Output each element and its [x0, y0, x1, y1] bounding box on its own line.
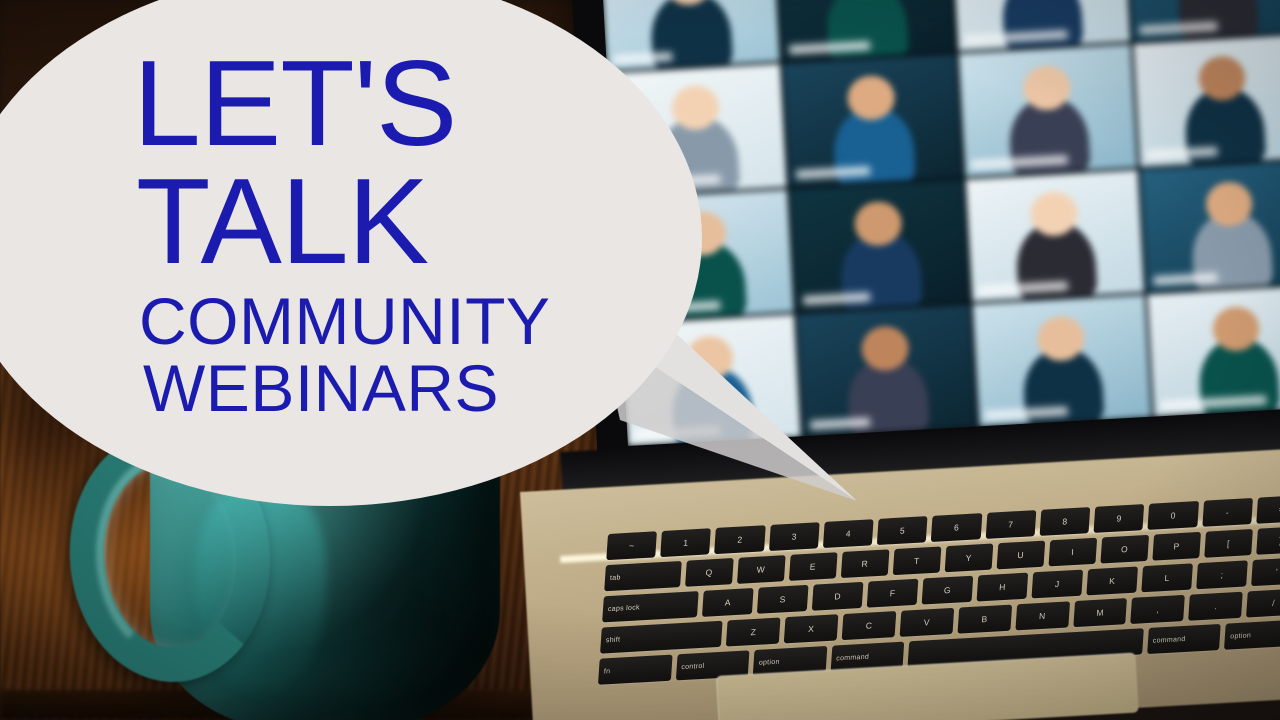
video-tile: [797, 304, 976, 436]
video-tile: [621, 314, 800, 446]
participant-body: [825, 0, 909, 61]
key-A[interactable]: A: [702, 588, 754, 617]
key-J[interactable]: J: [1031, 570, 1083, 599]
key--[interactable]: -: [1202, 498, 1253, 527]
key-V[interactable]: V: [900, 608, 955, 637]
key-shift[interactable]: shift: [600, 621, 723, 654]
key-Y[interactable]: Y: [944, 544, 993, 573]
promotional-graphic: ~1234567890-=tabQWERTYUIOP[]caps lockASD…: [0, 0, 1280, 720]
video-tile: [1148, 285, 1280, 417]
video-tile: [776, 0, 955, 61]
participant-body: [1176, 0, 1260, 41]
key-O[interactable]: O: [1100, 535, 1149, 564]
key-R[interactable]: R: [840, 549, 889, 578]
key-C[interactable]: C: [842, 611, 897, 640]
key-U[interactable]: U: [996, 541, 1045, 570]
key-E[interactable]: E: [789, 552, 838, 581]
key-D[interactable]: D: [812, 582, 864, 611]
video-tile: [600, 0, 779, 71]
key-2[interactable]: 2: [715, 525, 766, 554]
participant-body: [1000, 0, 1084, 51]
video-tile: [1127, 0, 1280, 41]
key-7[interactable]: 7: [985, 510, 1036, 539]
key-K[interactable]: K: [1086, 566, 1138, 595]
key-][interactable]: ]: [1256, 526, 1280, 555]
key-6[interactable]: 6: [931, 513, 982, 542]
key-[[interactable]: [: [1204, 529, 1253, 558]
key-tab[interactable]: tab: [604, 561, 681, 591]
video-tile: [958, 45, 1137, 177]
key-G[interactable]: G: [922, 576, 974, 605]
key-;[interactable]: ;: [1196, 560, 1248, 589]
mug-handle-join: [205, 418, 315, 474]
key-'[interactable]: ': [1251, 557, 1280, 586]
video-tile: [1134, 35, 1280, 167]
key-fn[interactable]: fn: [598, 655, 672, 685]
video-tile: [614, 189, 793, 321]
key-option[interactable]: option: [1224, 620, 1280, 650]
key-B[interactable]: B: [957, 605, 1012, 634]
key-command[interactable]: command: [1147, 624, 1221, 654]
key-Z[interactable]: Z: [726, 617, 781, 646]
key-~[interactable]: ~: [606, 531, 657, 560]
key-P[interactable]: P: [1152, 532, 1201, 561]
key-T[interactable]: T: [892, 546, 941, 575]
key-4[interactable]: 4: [823, 519, 874, 548]
key-3[interactable]: 3: [769, 522, 820, 551]
video-tile: [1141, 160, 1280, 292]
video-tile: [965, 170, 1144, 302]
laptop-display: [600, 0, 1280, 446]
key-0[interactable]: 0: [1148, 501, 1199, 530]
key-Q[interactable]: Q: [685, 558, 734, 587]
key-W[interactable]: W: [737, 555, 786, 584]
key-L[interactable]: L: [1141, 563, 1193, 592]
key-5[interactable]: 5: [877, 516, 928, 545]
video-tile: [783, 54, 962, 186]
key-I[interactable]: I: [1048, 538, 1097, 567]
key-9[interactable]: 9: [1094, 504, 1145, 533]
key-F[interactable]: F: [867, 579, 919, 608]
background-photo: ~1234567890-=tabQWERTYUIOP[]caps lockASD…: [0, 0, 1280, 720]
mug-rim-interior: [186, 352, 464, 400]
key-1[interactable]: 1: [660, 528, 711, 557]
key-H[interactable]: H: [977, 573, 1029, 602]
key-.[interactable]: .: [1188, 592, 1243, 621]
video-tile: [951, 0, 1130, 51]
key-,[interactable]: ,: [1131, 595, 1186, 624]
key-8[interactable]: 8: [1039, 507, 1090, 536]
key-S[interactable]: S: [757, 585, 809, 614]
key-M[interactable]: M: [1073, 598, 1128, 627]
key-/[interactable]: /: [1246, 588, 1280, 617]
video-call-grid: [600, 0, 1280, 446]
video-tile: [790, 179, 969, 311]
video-tile: [972, 295, 1151, 427]
key-=[interactable]: =: [1256, 495, 1280, 524]
key-caps-lock[interactable]: caps lock: [602, 591, 699, 622]
video-tile: [607, 64, 786, 196]
key-N[interactable]: N: [1015, 601, 1070, 630]
key-X[interactable]: X: [784, 614, 839, 643]
